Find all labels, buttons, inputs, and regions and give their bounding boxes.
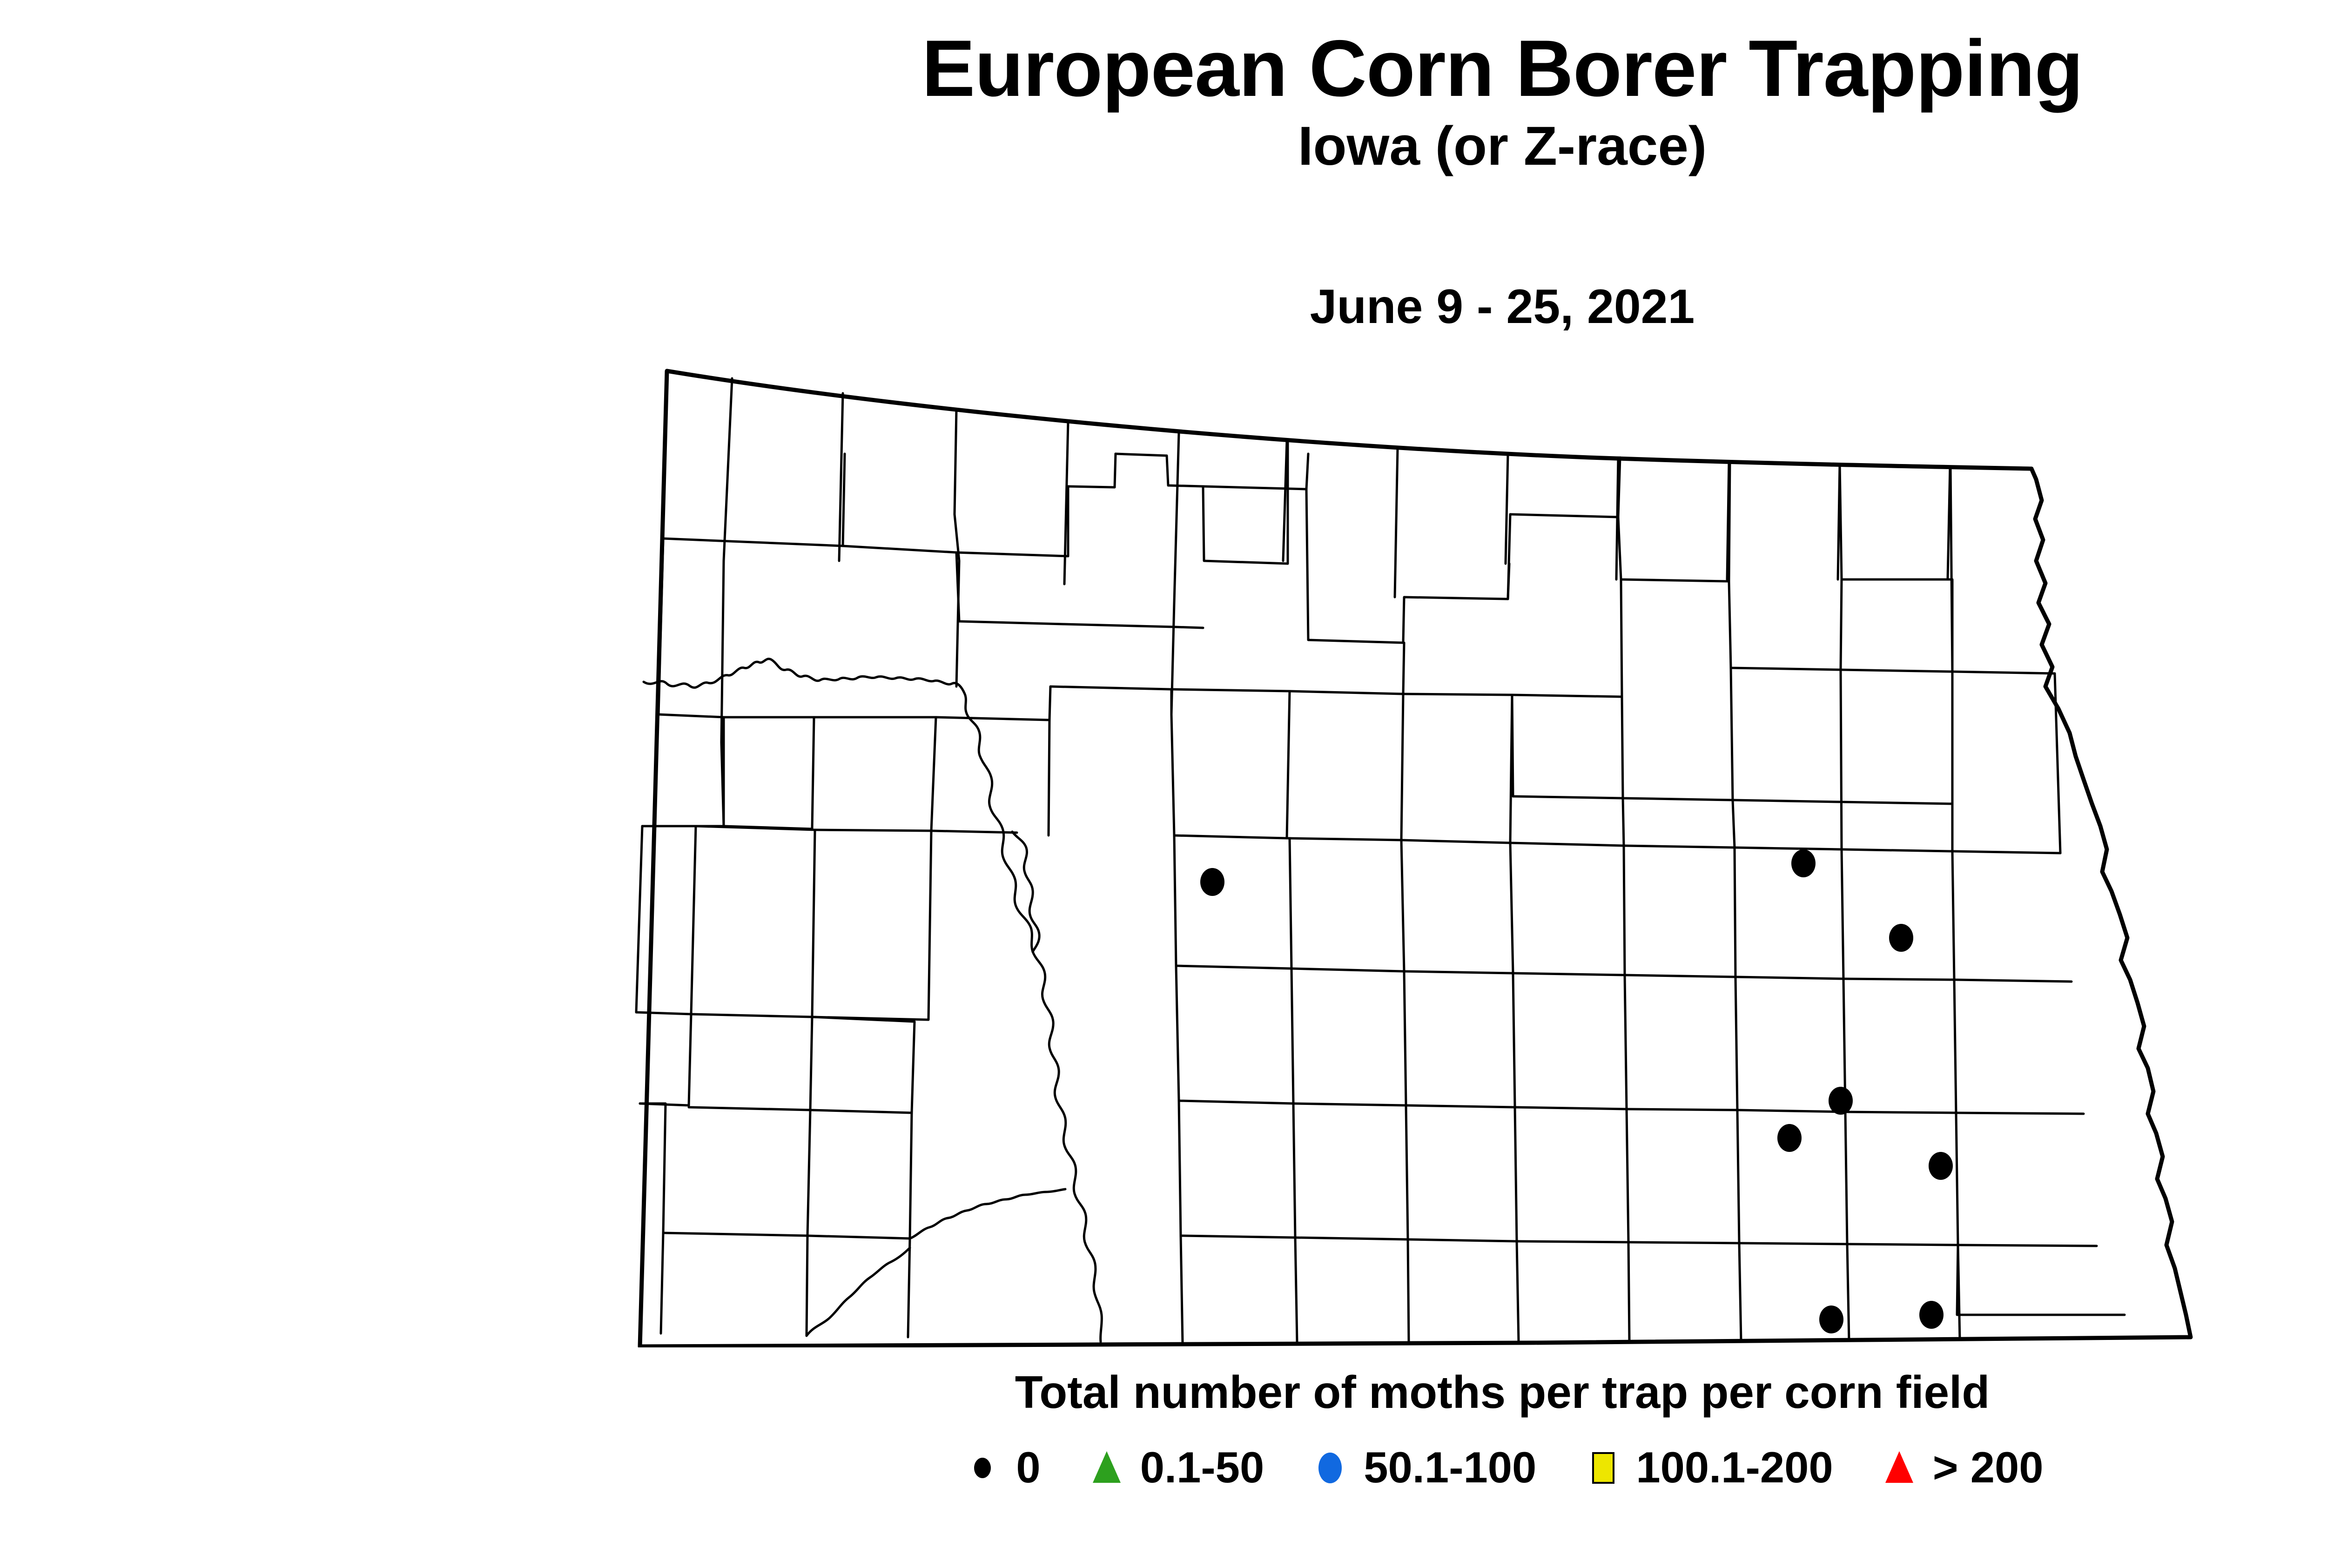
trap-marker-circle xyxy=(1929,1152,1953,1180)
legend-item[interactable]: 0 xyxy=(961,1442,1040,1493)
trap-marker-circle xyxy=(1889,924,1913,952)
county-line xyxy=(1958,1245,2097,1246)
trap-marker-circle xyxy=(1819,1306,1843,1333)
county-line xyxy=(1408,1239,1409,1342)
yellow-square-icon-shape xyxy=(1593,1453,1614,1483)
county-line xyxy=(1512,695,1513,796)
red-triangle-icon xyxy=(1878,1442,1921,1493)
trap-marker-circle xyxy=(1777,1124,1802,1152)
page-subtitle: Iowa (or Z-race) xyxy=(0,118,2327,175)
county-line xyxy=(1628,1242,1629,1342)
green-triangle-icon-shape xyxy=(1093,1451,1121,1483)
trap-marker-circle xyxy=(1919,1301,1944,1329)
legend-heading: Total number of moths per trap per corn … xyxy=(0,1366,2327,1419)
date-range-label: June 9 - 25, 2021 xyxy=(0,279,2327,335)
green-triangle-icon xyxy=(1085,1442,1128,1493)
yellow-square-icon xyxy=(1581,1442,1624,1493)
legend-item-label: 50.1-100 xyxy=(1364,1446,1536,1489)
black-circle-icon xyxy=(961,1442,1004,1493)
map-svg xyxy=(584,361,2222,1347)
map-page: European Corn Borer Trapping Iowa (or Z-… xyxy=(0,0,2327,1568)
page-title: European Corn Borer Trapping xyxy=(0,28,2327,109)
legend-item[interactable]: 100.1-200 xyxy=(1581,1442,1833,1493)
trap-marker-circle xyxy=(1200,868,1224,896)
county-line xyxy=(1174,627,1203,628)
legend-item[interactable]: > 200 xyxy=(1878,1442,2044,1493)
red-triangle-icon-shape xyxy=(1885,1451,1913,1483)
north-dakota-map xyxy=(584,361,2222,1347)
legend-item-label: 0 xyxy=(1016,1446,1040,1489)
legend-item-label: 100.1-200 xyxy=(1636,1446,1833,1489)
legend-item[interactable]: 50.1-100 xyxy=(1309,1442,1536,1493)
county-line xyxy=(1049,720,1049,835)
blue-circle-icon-shape xyxy=(1318,1453,1342,1483)
map-county-layer xyxy=(636,371,2191,1346)
blue-circle-icon xyxy=(1309,1442,1352,1493)
title-block: European Corn Borer Trapping Iowa (or Z-… xyxy=(0,28,2327,175)
county-line xyxy=(807,1236,807,1336)
black-circle-icon-shape xyxy=(974,1458,991,1478)
legend-item-label: 0.1-50 xyxy=(1140,1446,1264,1489)
trap-marker-circle xyxy=(1791,849,1816,877)
legend-item[interactable]: 0.1-50 xyxy=(1085,1442,1264,1493)
county-line xyxy=(1956,1113,2084,1114)
trap-marker-circle xyxy=(1829,1087,1853,1115)
legend: 00.1-5050.1-100100.1-200> 200 xyxy=(0,1442,2327,1493)
legend-item-label: > 200 xyxy=(1933,1446,2044,1489)
